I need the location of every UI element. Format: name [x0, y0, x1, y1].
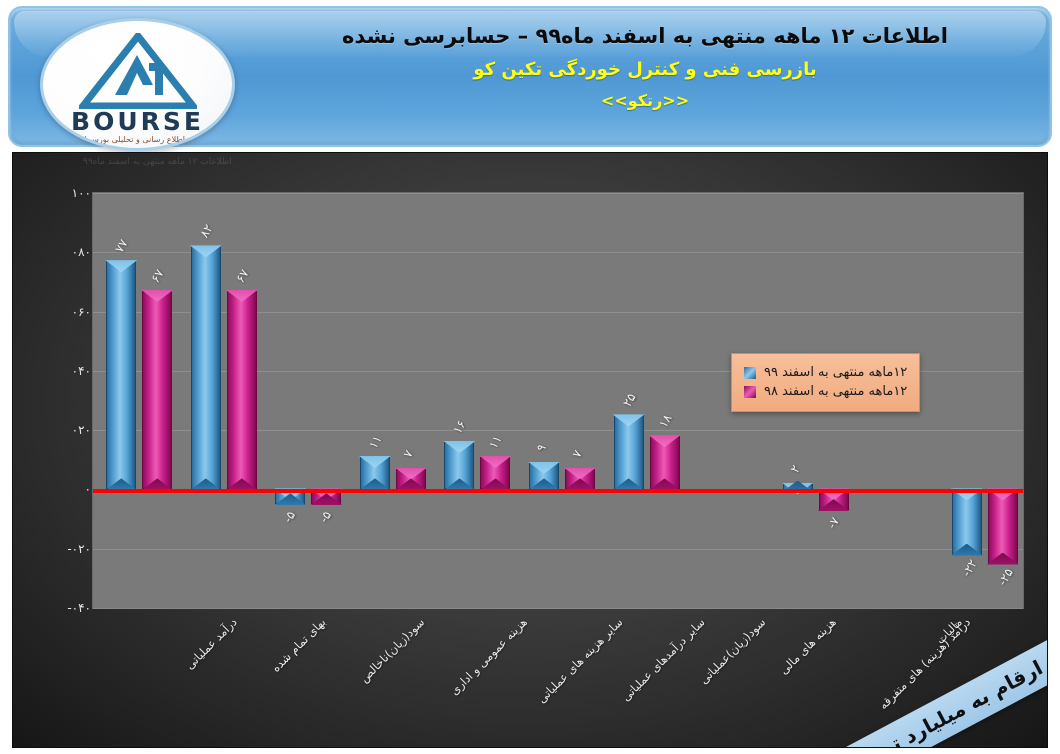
y-tick-label: ۰۶۰	[72, 305, 91, 319]
bar-value-label: ۱۱	[366, 433, 385, 451]
bar-value-label: ۶۷	[233, 267, 252, 285]
x-axis: درآمد عملیاتیبهای تمام شدهسود(زیان)ناخال…	[93, 615, 1023, 740]
bar-series99-1[interactable]	[191, 246, 221, 489]
x-tick-label-4: سایر هزینه های عملیاتی	[535, 615, 626, 706]
legend-label-1: ۱۲ماهه منتهی به اسفند ۹۸	[764, 384, 907, 399]
bar-series98-0[interactable]	[142, 291, 172, 490]
bourse24-logo: BOURSE پایگاه اطلاع رسانی و تحلیلی بورس …	[40, 18, 235, 151]
bar-body	[191, 246, 221, 489]
bar-series98-3[interactable]	[396, 469, 426, 490]
logo-tagline: پایگاه اطلاع رسانی و تحلیلی بورس ایران	[43, 135, 232, 144]
legend-swatch-blue-icon	[744, 367, 756, 379]
bar-series99-3[interactable]	[360, 457, 390, 490]
bar-body	[227, 291, 257, 490]
zero-axis-line	[93, 489, 1023, 493]
chart-panel: اطلاعات ۱۲ ماهه منتهی به اسفند ماه۹۹ ۱۰۰…	[12, 152, 1048, 748]
bar-value-label: ۶۷	[148, 267, 167, 285]
chart-watermark-caption: اطلاعات ۱۲ ماهه منتهی به اسفند ماه۹۹	[83, 157, 232, 167]
legend-item-1[interactable]: ۱۲ماهه منتهی به اسفند ۹۸	[744, 384, 907, 399]
bar-value-label: ۱۸	[656, 412, 675, 430]
bar-value-label: ۷۷	[112, 237, 131, 255]
bar-body	[988, 489, 1018, 563]
bar-series99-0[interactable]	[106, 261, 136, 489]
bar-value-label: ۲	[787, 462, 802, 475]
x-tick-label-1: بهای تمام شده	[268, 615, 328, 675]
header-banner-plate: BOURSE پایگاه اطلاع رسانی و تحلیلی بورس …	[8, 6, 1052, 147]
y-tick-label: -۰۲۰	[67, 542, 91, 556]
bar-series99-10[interactable]	[952, 489, 982, 554]
bar-value-label: -۵	[281, 509, 299, 525]
bar-series98-4[interactable]	[480, 457, 510, 490]
y-tick-label: ۰۴۰	[72, 364, 91, 378]
bar-value-label: ۱۶	[451, 418, 470, 436]
y-tick-label: ۰۸۰	[72, 245, 91, 259]
bar-value-label: ۷	[400, 447, 415, 460]
gridline	[93, 608, 1023, 609]
bar-value-label: -۵	[317, 509, 335, 525]
legend-swatch-pink-icon	[744, 386, 756, 398]
bar-series98-5[interactable]	[565, 469, 595, 490]
y-tick-label: ۰۲۰	[72, 423, 91, 437]
y-tick-label: ۱۰۰	[72, 186, 91, 200]
x-tick-label-2: سود(زیان)ناخالص	[357, 615, 427, 685]
bar-series99-5[interactable]	[529, 463, 559, 490]
x-tick-label-7: هزینه های مالی	[777, 615, 839, 677]
bar-body	[614, 415, 644, 489]
bar-value-label: ۸۲	[197, 222, 216, 240]
page-header: BOURSE پایگاه اطلاع رسانی و تحلیلی بورس …	[0, 0, 1060, 152]
x-tick-label-0: درآمد عملیاتی	[183, 615, 240, 672]
bar-value-label: ۹	[534, 441, 549, 454]
bar-value-label: ۱۱	[487, 433, 506, 451]
header-title-block: اطلاعات ۱۲ ماهه منتهی به اسفند ماه۹۹ – ح…	[250, 22, 1040, 110]
legend-label-0: ۱۲ماهه منتهی به اسفند ۹۹	[764, 365, 907, 380]
bar-series98-6[interactable]	[650, 436, 680, 489]
bar-value-label: ۲۵	[620, 391, 639, 409]
page-title: اطلاعات ۱۲ ماهه منتهی به اسفند ماه۹۹ – ح…	[250, 22, 1040, 50]
legend-item-0[interactable]: ۱۲ماهه منتهی به اسفند ۹۹	[744, 365, 907, 380]
logo-triangle-icon	[79, 33, 197, 109]
bar-value-label: ۷	[570, 447, 585, 460]
y-axis: ۱۰۰۰۸۰۰۶۰۰۴۰۰۲۰۰-۰۲۰-۰۴۰	[35, 193, 91, 608]
bar-value-label: -۷	[824, 515, 842, 531]
bar-series98-10[interactable]	[988, 489, 1018, 563]
bar-series98-1[interactable]	[227, 291, 257, 490]
x-tick-label-3: هزینه عمومی و اداری	[447, 615, 530, 698]
bar-value-label: -۲۵	[995, 566, 1016, 588]
bar-series99-4[interactable]	[444, 442, 474, 489]
bar-body	[106, 261, 136, 489]
logo-wordmark: BOURSE	[43, 107, 232, 136]
y-tick-label: ۰	[85, 482, 91, 496]
bar-series99-6[interactable]	[614, 415, 644, 489]
x-tick-label-5: سایر درآمدهای عملیاتی	[619, 615, 708, 704]
ticker-symbol: <<رتکو>>	[250, 91, 1040, 110]
x-tick-label-6: سود(زیان)عملیاتی	[696, 615, 768, 687]
bar-value-label: -۲۲	[959, 557, 980, 579]
bar-body	[142, 291, 172, 490]
chart-legend: ۱۲ماهه منتهی به اسفند ۹۹ ۱۲ماهه منتهی به…	[731, 353, 920, 412]
y-tick-label: -۰۴۰	[67, 601, 91, 615]
company-name: بازرسی فنی و کنترل خوردگی تکین کو	[250, 56, 1040, 83]
